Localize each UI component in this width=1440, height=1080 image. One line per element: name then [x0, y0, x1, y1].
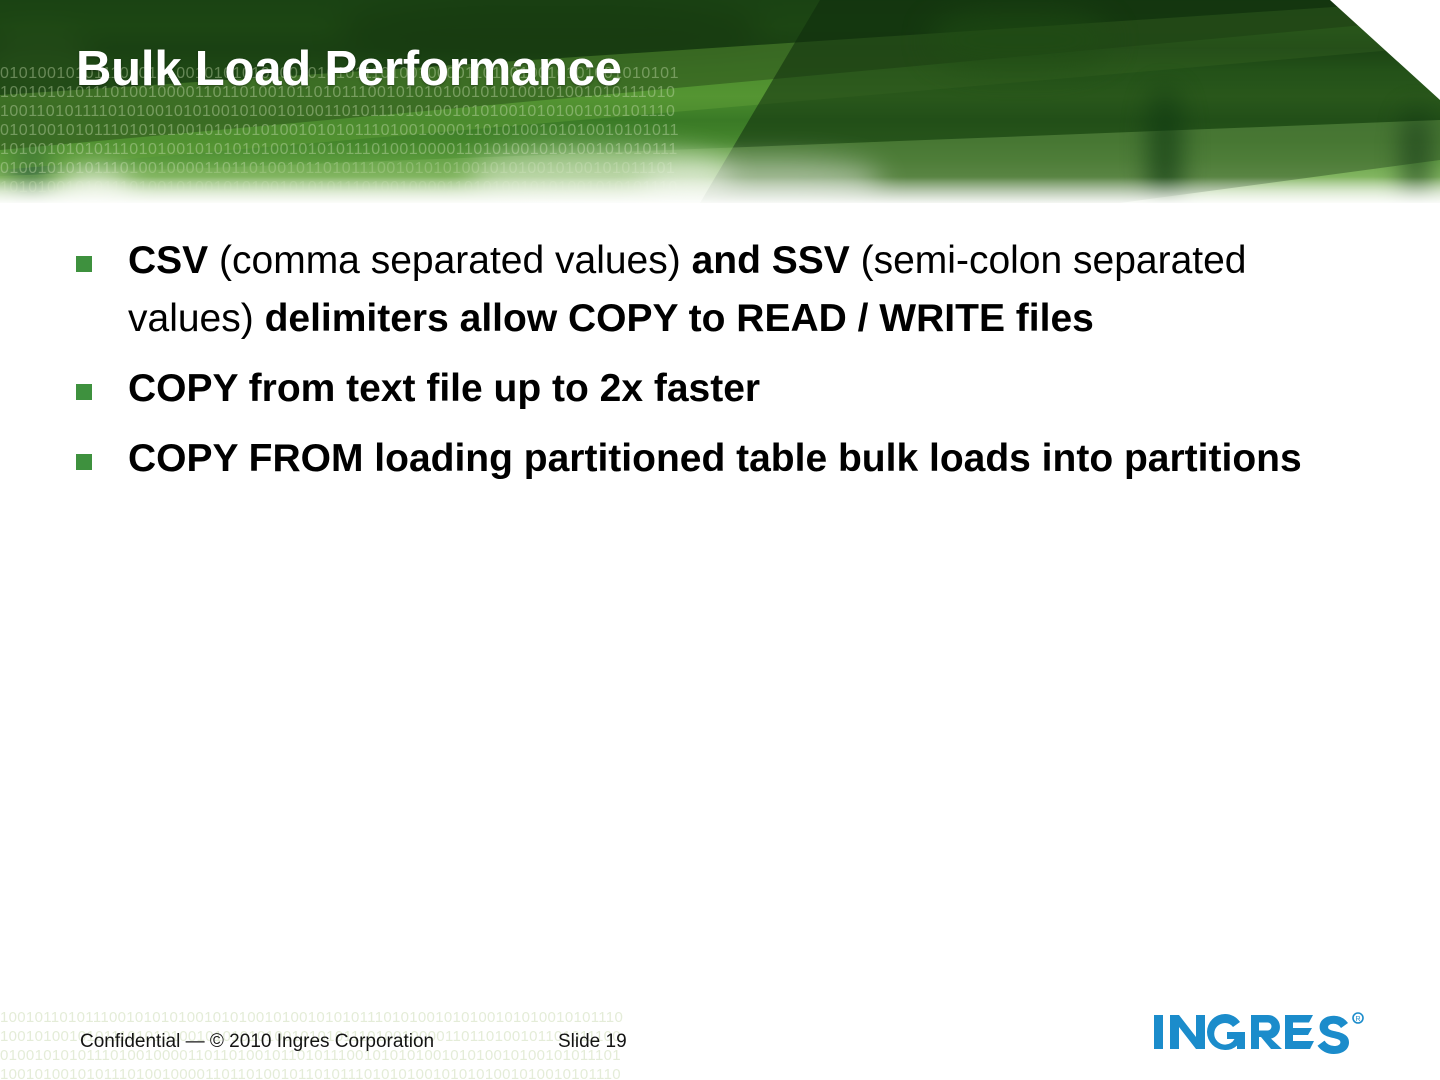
bullet-square-icon — [76, 384, 92, 400]
list-item-text: COPY from text file up to 2x faster — [128, 360, 1310, 418]
list-item-text: CSV (comma separated values) and SSV (se… — [128, 232, 1310, 348]
text-segment: COPY from text file up to 2x faster — [128, 367, 760, 410]
list-item: COPY FROM loading partitioned table bulk… — [0, 430, 1310, 488]
footer-confidential-text: Confidential — © 2010 Ingres Corporation — [80, 1031, 434, 1053]
binary-row: 1001010010101110100100001101101001011010… — [0, 1065, 1440, 1080]
footer-slide-number: Slide 19 — [558, 1031, 627, 1053]
text-segment: (comma separated values) — [219, 239, 692, 282]
header-banner: 0101001010111010101001010101010010101011… — [0, 0, 1440, 203]
ingres-logo-wordmark: R — [1152, 1007, 1382, 1057]
ingres-logo: R — [1152, 1007, 1382, 1057]
banner-bottom-fade — [0, 177, 1440, 203]
bullet-square-icon — [76, 256, 92, 272]
list-item: COPY from text file up to 2x faster — [0, 360, 1310, 418]
list-item: CSV (comma separated values) and SSV (se… — [0, 232, 1310, 348]
list-item-text: COPY FROM loading partitioned table bulk… — [128, 430, 1310, 488]
text-segment: COPY FROM loading partitioned table bulk… — [128, 437, 1302, 480]
text-segment: and SSV — [692, 239, 861, 282]
bullet-square-icon — [76, 454, 92, 470]
text-segment: delimiters allow COPY to READ / WRITE fi… — [265, 297, 1094, 340]
page-title: Bulk Load Performance — [76, 40, 622, 98]
banner-blur-blob — [930, 10, 1110, 70]
bullet-list: CSV (comma separated values) and SSV (se… — [0, 232, 1310, 500]
svg-text:R: R — [1355, 1016, 1360, 1023]
text-segment: CSV — [128, 239, 219, 282]
